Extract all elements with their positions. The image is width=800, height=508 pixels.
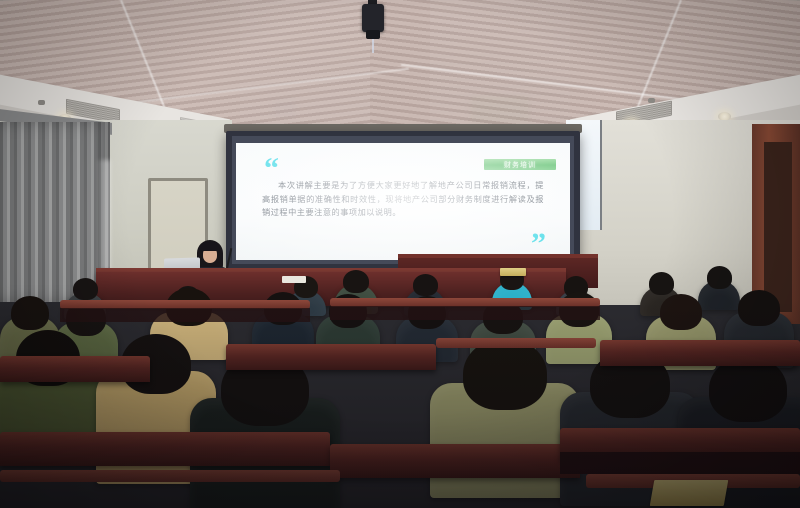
sprinkler-left — [38, 100, 45, 105]
bench-rail-mid — [436, 338, 596, 348]
yellow-notebook[interactable] — [650, 480, 729, 506]
person-head — [73, 278, 98, 300]
projector-lens-icon — [366, 30, 380, 39]
quote-open-icon: “ — [264, 157, 281, 181]
attendee-near-3 — [190, 352, 340, 508]
gray-window-curtain[interactable] — [0, 122, 110, 302]
projector-beam — [372, 39, 374, 53]
person-head — [413, 274, 438, 296]
person-head — [11, 296, 49, 330]
bench-rail-near-left — [0, 470, 340, 482]
slide-body-text: 本次讲解主要是为了方便大家更好地了解地产公司日常报销流程，提高报销单据的准确性和… — [262, 179, 544, 220]
conference-room-photo: “ 财务培训 本次讲解主要是为了方便大家更好地了解地产公司日常报销流程，提高报销… — [0, 0, 800, 508]
projector-body — [362, 4, 384, 32]
person-head — [463, 338, 547, 410]
slide-badge-label: 财务培训 — [504, 160, 536, 170]
paper-on-desk — [282, 276, 306, 283]
bench-middle-center[interactable] — [226, 344, 436, 370]
desk-near-right — [560, 452, 800, 474]
quote-close-icon: ” — [531, 232, 548, 256]
curtain-light-gap — [96, 160, 110, 270]
person-head — [343, 270, 369, 293]
person-head — [660, 294, 702, 330]
person-head — [649, 272, 674, 295]
person-head — [738, 290, 780, 326]
ceiling-projector — [362, 0, 384, 48]
notebook-far-desk — [500, 268, 526, 276]
bench-middle-left[interactable] — [0, 356, 150, 382]
bench-near-left[interactable] — [0, 432, 330, 466]
sprinkler-right — [648, 98, 655, 103]
desk-far-left — [60, 308, 310, 322]
wood-column-inset — [764, 142, 792, 312]
presenter-hair-front — [200, 242, 220, 251]
desk-far-right — [330, 306, 600, 320]
slide-green-badge: 财务培训 — [484, 159, 556, 170]
person-head — [707, 266, 732, 289]
bench-middle-right[interactable] — [600, 340, 800, 366]
bench-near-center[interactable] — [330, 444, 580, 478]
projection-screen[interactable]: “ 财务培训 本次讲解主要是为了方便大家更好地了解地产公司日常报销流程，提高报销… — [236, 143, 570, 260]
